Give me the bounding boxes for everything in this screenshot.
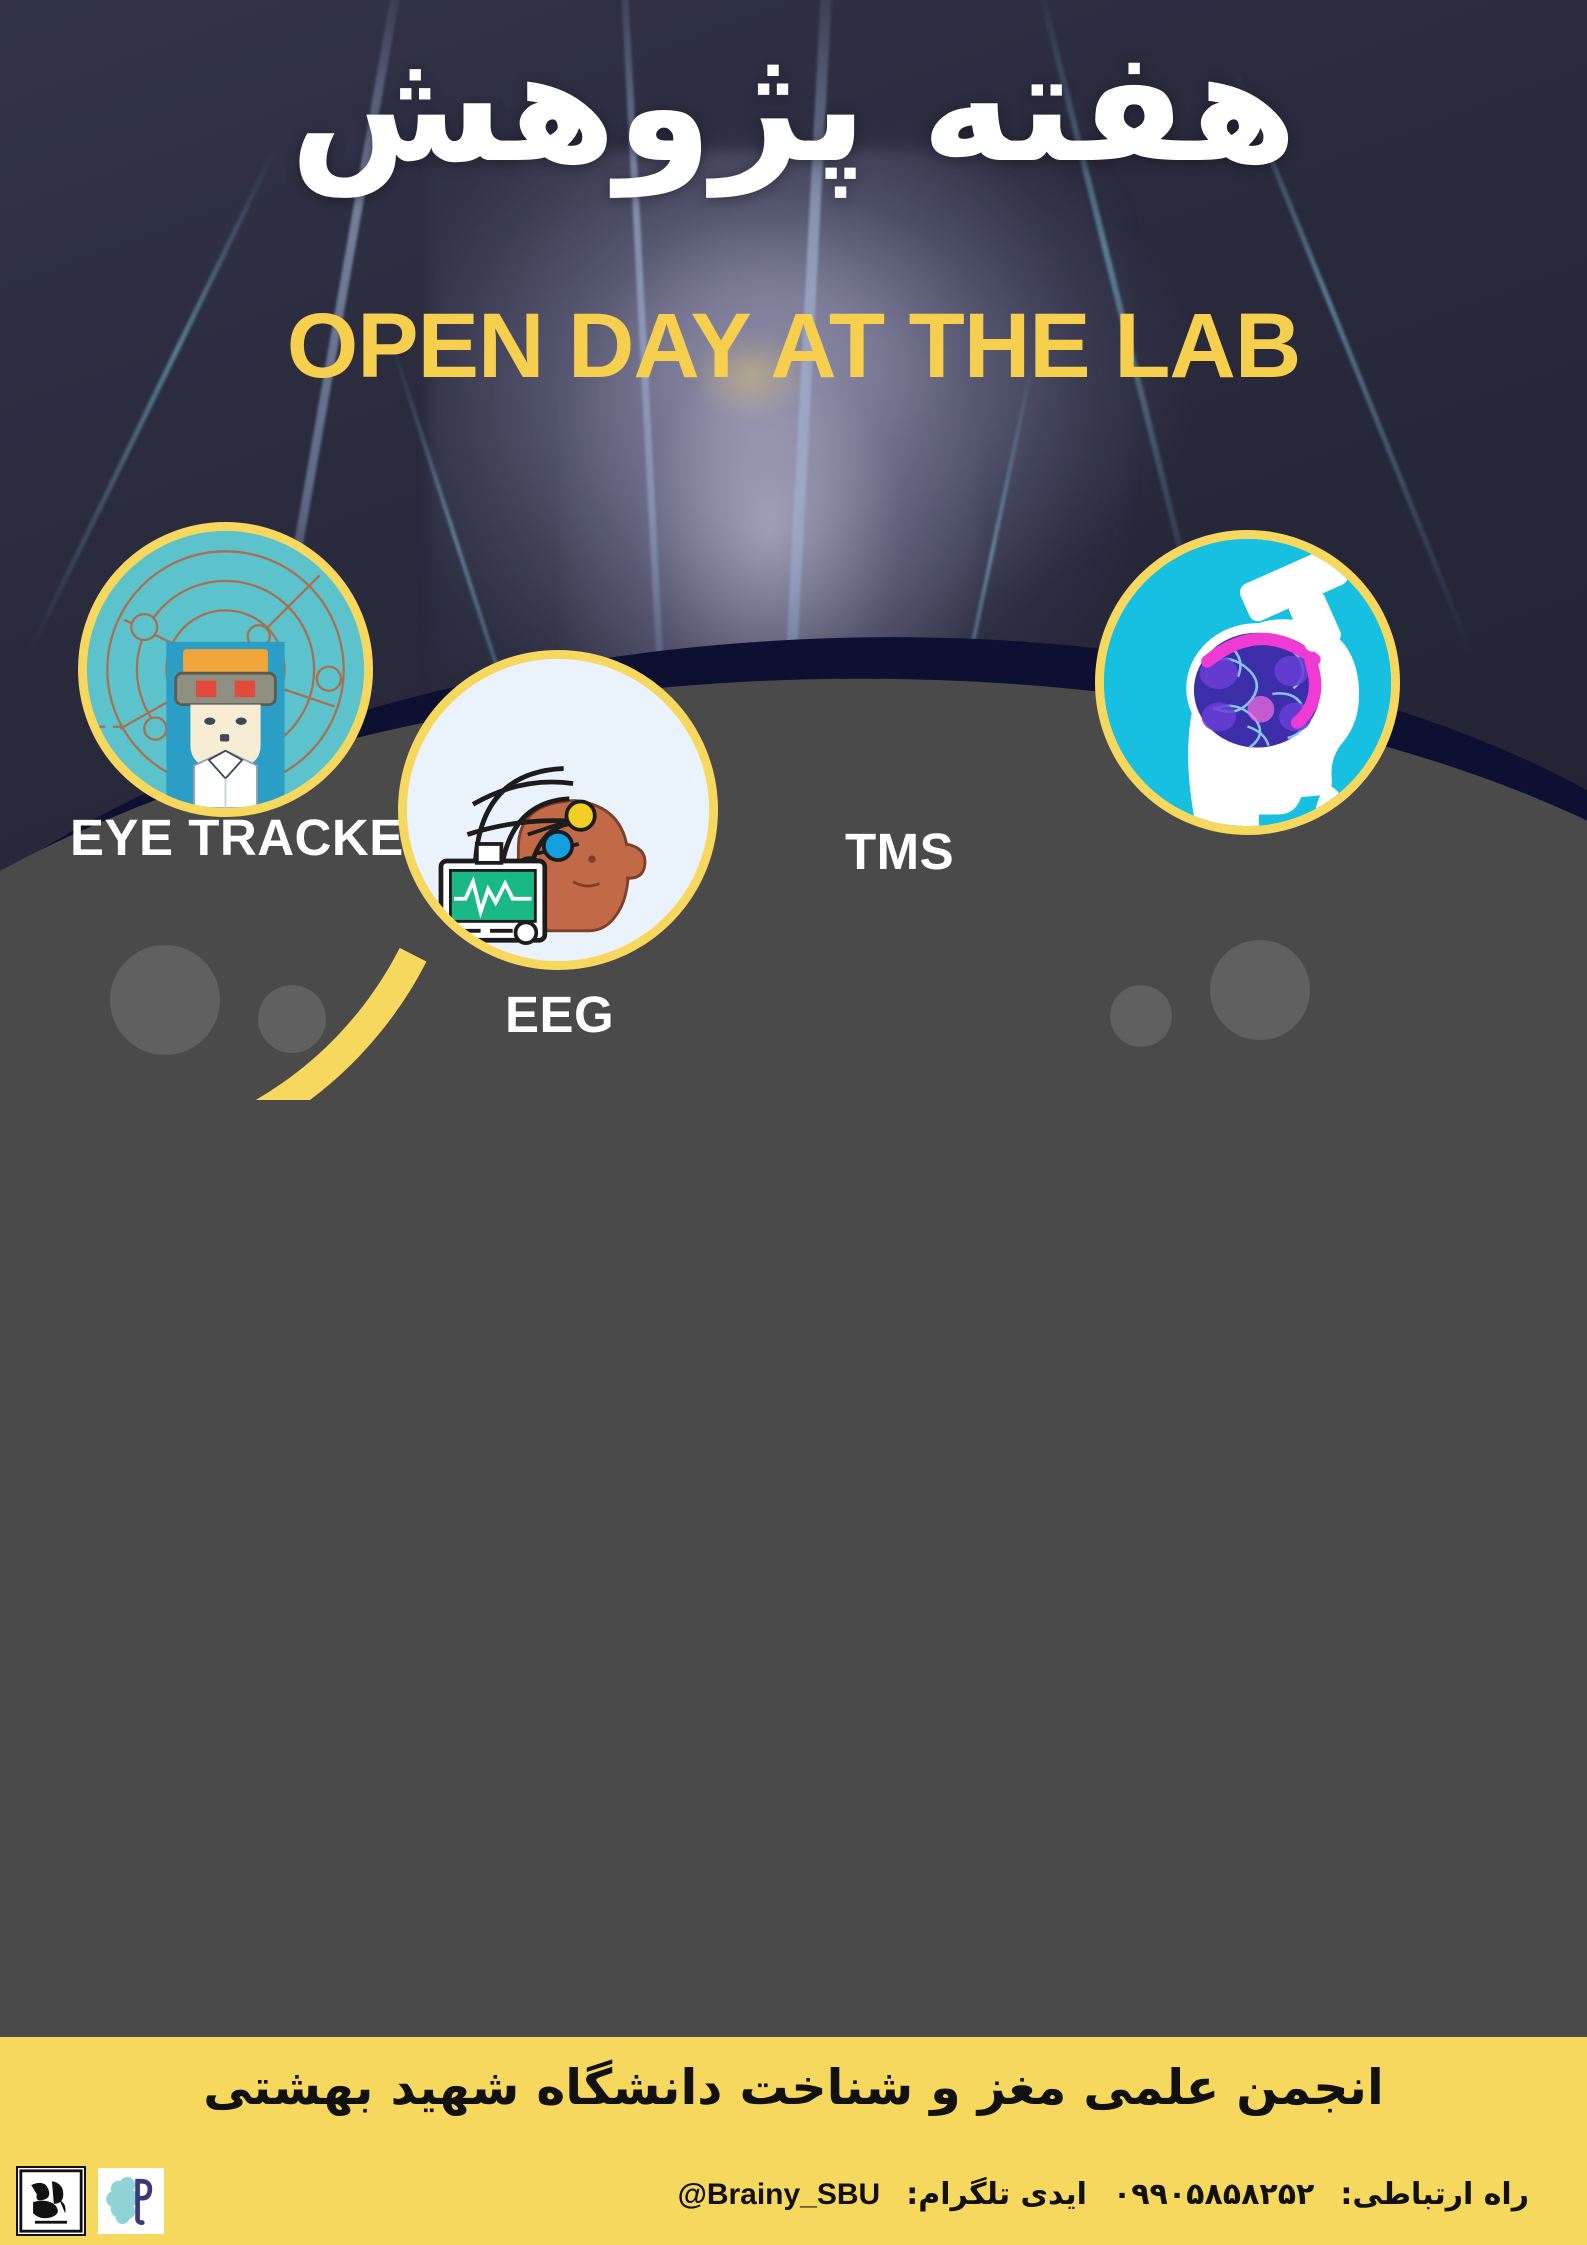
telegram-label: ایدی تلگرام:	[906, 2177, 1087, 2212]
decorative-circle	[1210, 940, 1310, 1040]
organization-name: انجمن علمی مغز و شناخت دانشگاه شهید بهشت…	[0, 2059, 1587, 2116]
page-title-english: OPEN DAY AT THE LAB	[0, 300, 1587, 392]
station-circle-eeg	[398, 650, 718, 970]
station-label-eeg: EEG	[505, 985, 614, 1044]
brain-logo-icon	[100, 2168, 162, 2234]
station-label-eye-tracker: EYE TRACKER	[70, 808, 441, 867]
brain-association-logo	[98, 2168, 164, 2234]
station-circle-tms	[1095, 530, 1400, 835]
telegram-handle[interactable]: @Brainy_SBU	[678, 2178, 881, 2212]
page-title-persian: هفته پژوهش	[0, 20, 1587, 194]
footer-band: انجمن علمی مغز و شناخت دانشگاه شهید بهشت…	[0, 2037, 1587, 2245]
eye-tracker-icon	[87, 531, 364, 808]
station-label-tms: TMS	[845, 822, 954, 881]
station-circle-eye-tracker	[78, 522, 373, 817]
poster-root: هفته پژوهش OPEN DAY AT THE LAB	[0, 0, 1587, 2245]
contact-row: راه ارتباطی: ۰۹۹۰۵۸۵۸۲۵۲ ایدی تلگرام: @B…	[678, 2177, 1529, 2212]
decorative-circle	[1110, 985, 1172, 1047]
decorative-circle	[110, 945, 220, 1055]
university-seal-icon	[18, 2166, 84, 2236]
decorative-circle	[258, 985, 326, 1053]
contact-phone-label: راه ارتباطی:	[1340, 2177, 1529, 2212]
shahid-beheshti-university-logo	[16, 2166, 86, 2236]
info-section: مفتخریم که در انجمن علمی مغز و شناخت دان…	[0, 1100, 1587, 2065]
contact-phone-number: ۰۹۹۰۵۸۵۸۲۵۲	[1113, 2177, 1314, 2212]
tms-coil-icon	[1104, 539, 1391, 826]
eeg-cap-icon	[407, 659, 709, 961]
